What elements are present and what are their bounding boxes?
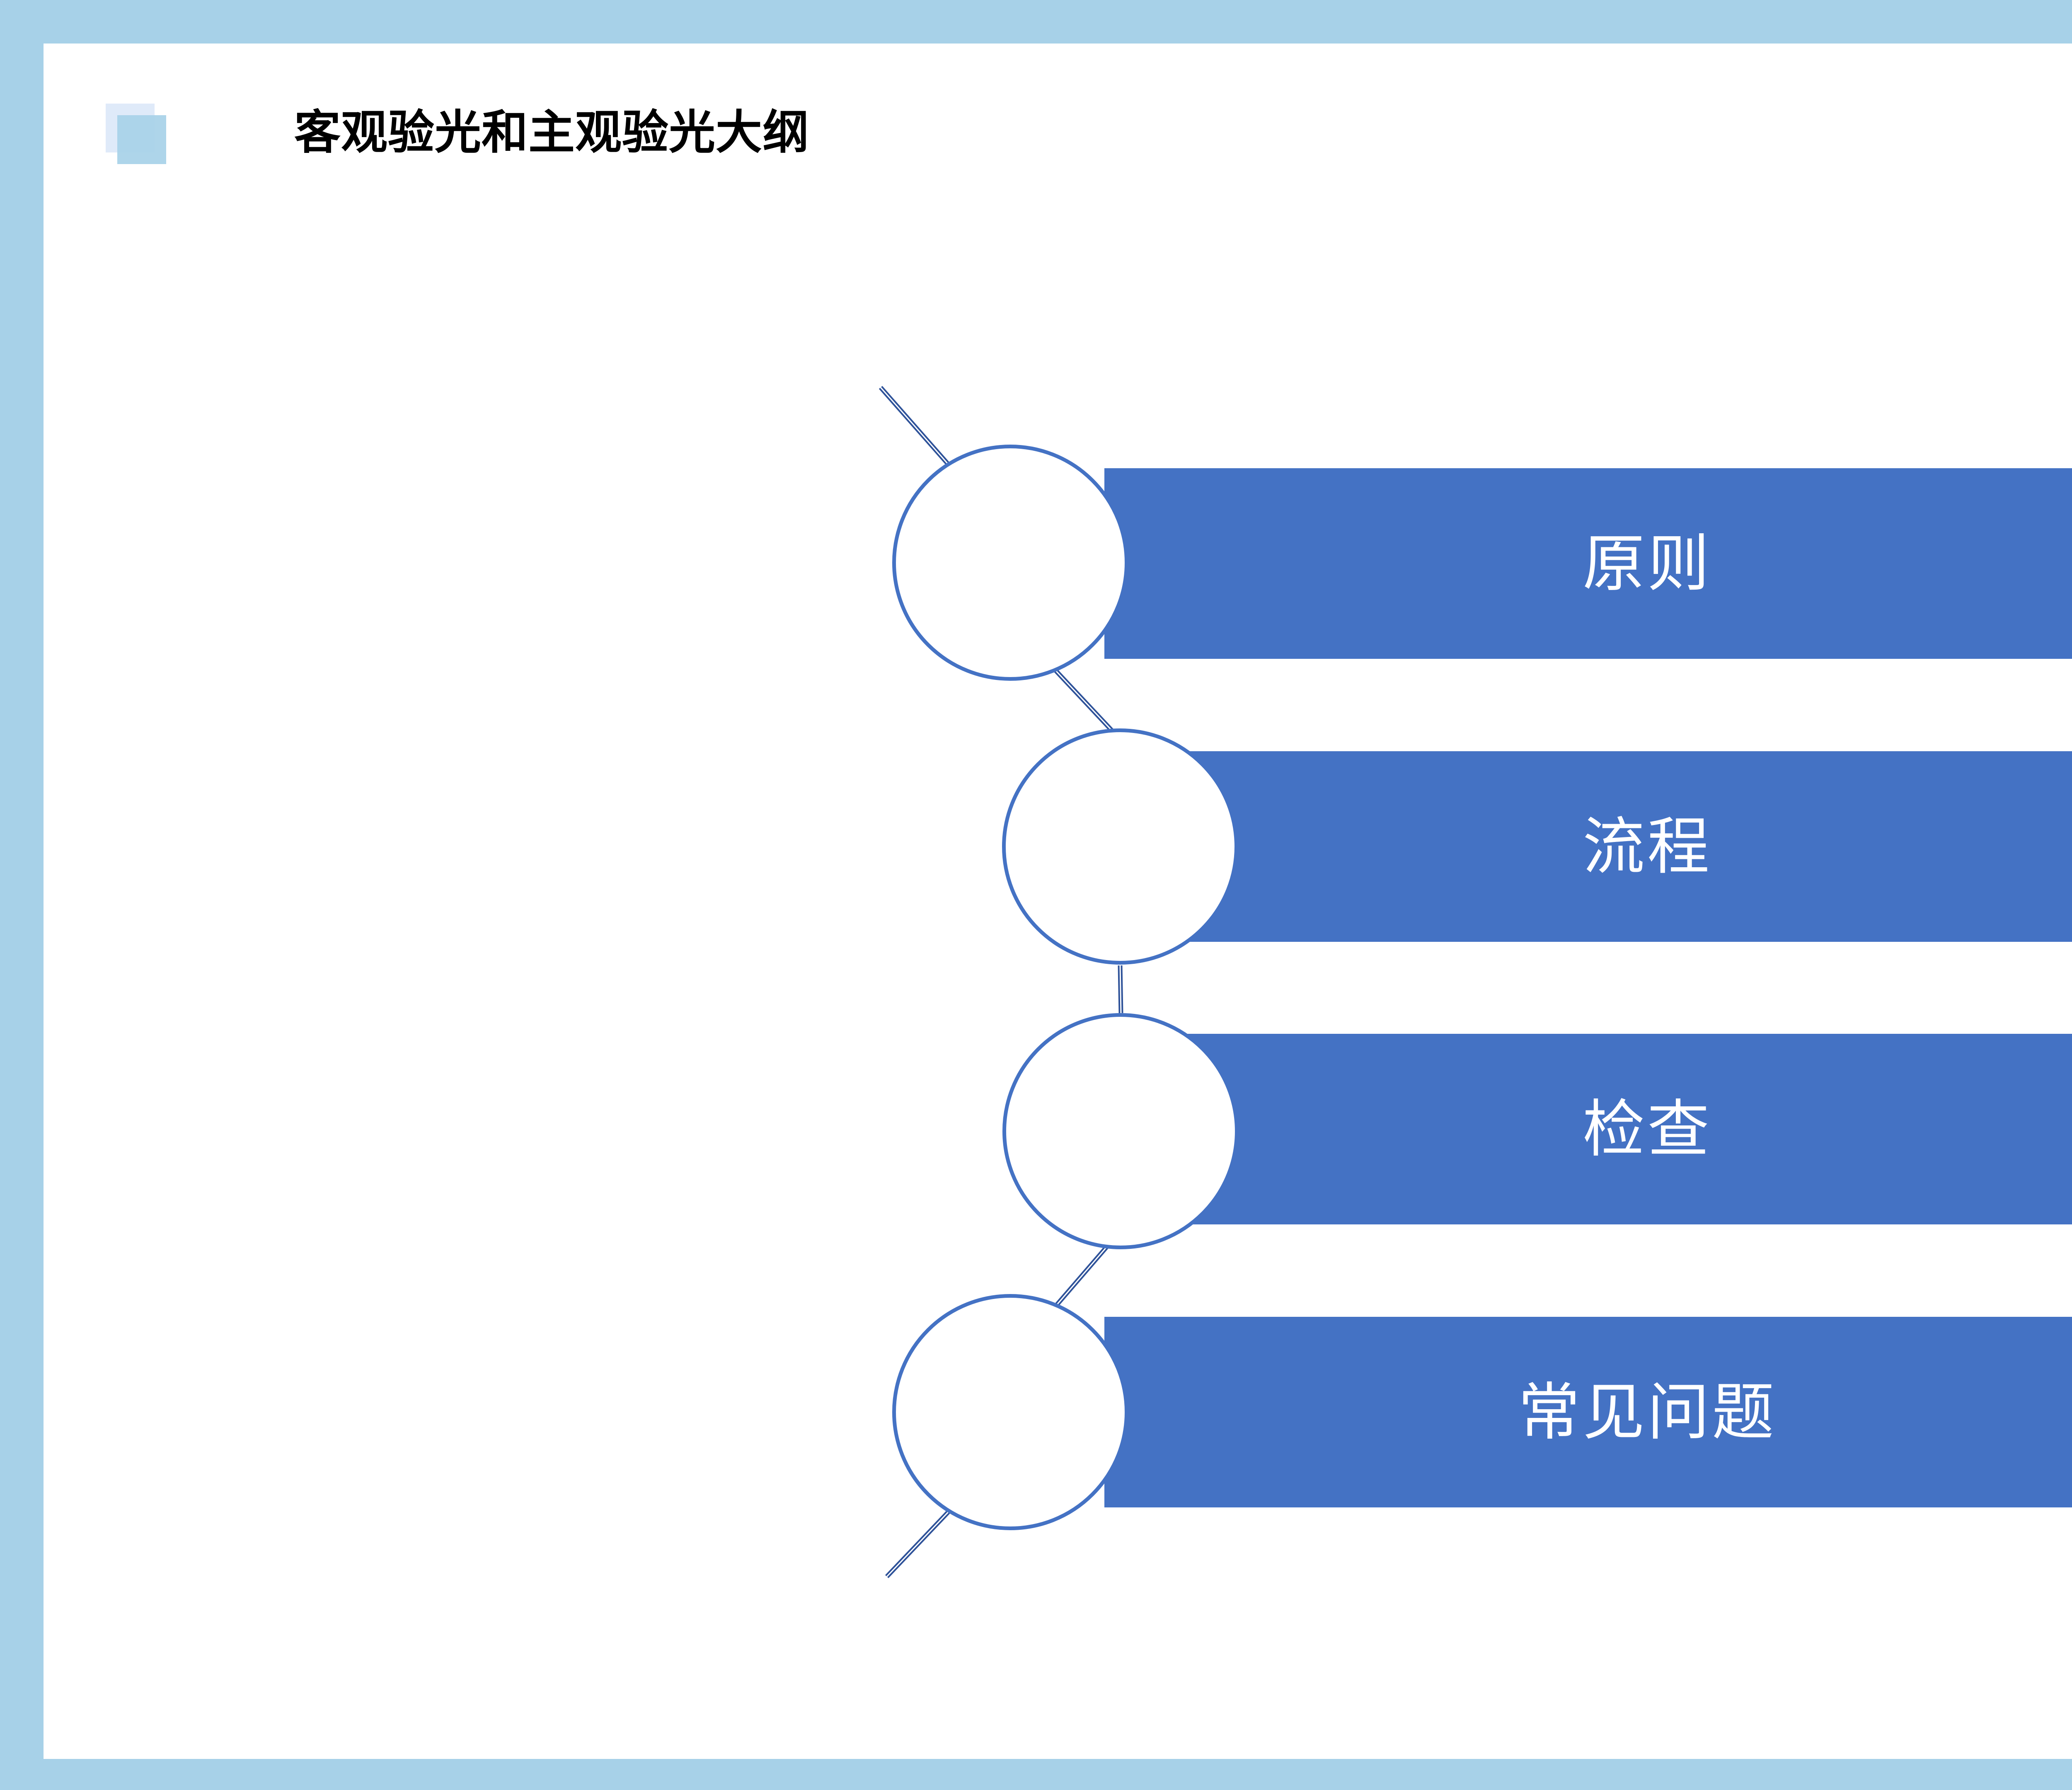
outline-bar-2[interactable]: 流程 — [1104, 751, 2072, 942]
outline-bar-label-4: 常见问题 — [1518, 1381, 1777, 1443]
outline-diagram: 原则 流程 检查 常见问题 — [44, 44, 2072, 1759]
outline-node-circle-4[interactable] — [892, 1294, 1128, 1530]
connector-2-3 — [1120, 965, 1121, 1013]
outline-bar-4[interactable]: 常见问题 — [1104, 1317, 2072, 1507]
outline-bar-1[interactable]: 原则 — [1104, 468, 2072, 659]
outline-node-circle-1[interactable] — [892, 445, 1128, 681]
slide-canvas: 客观验光和主观验光大纲 — [44, 44, 2072, 1759]
slide-root: 客观验光和主观验光大纲 — [0, 0, 2072, 1790]
connector-1-2 — [1051, 665, 1113, 731]
outline-bar-label-2: 流程 — [1583, 815, 1712, 878]
outline-bar-label-1: 原则 — [1583, 532, 1712, 595]
outline-bar-label-3: 检查 — [1583, 1098, 1712, 1160]
outline-bar-3[interactable]: 检查 — [1104, 1034, 2072, 1224]
outline-node-circle-3[interactable] — [1002, 1013, 1239, 1249]
connector-3-4 — [1055, 1247, 1106, 1307]
outline-node-circle-2[interactable] — [1002, 728, 1238, 965]
